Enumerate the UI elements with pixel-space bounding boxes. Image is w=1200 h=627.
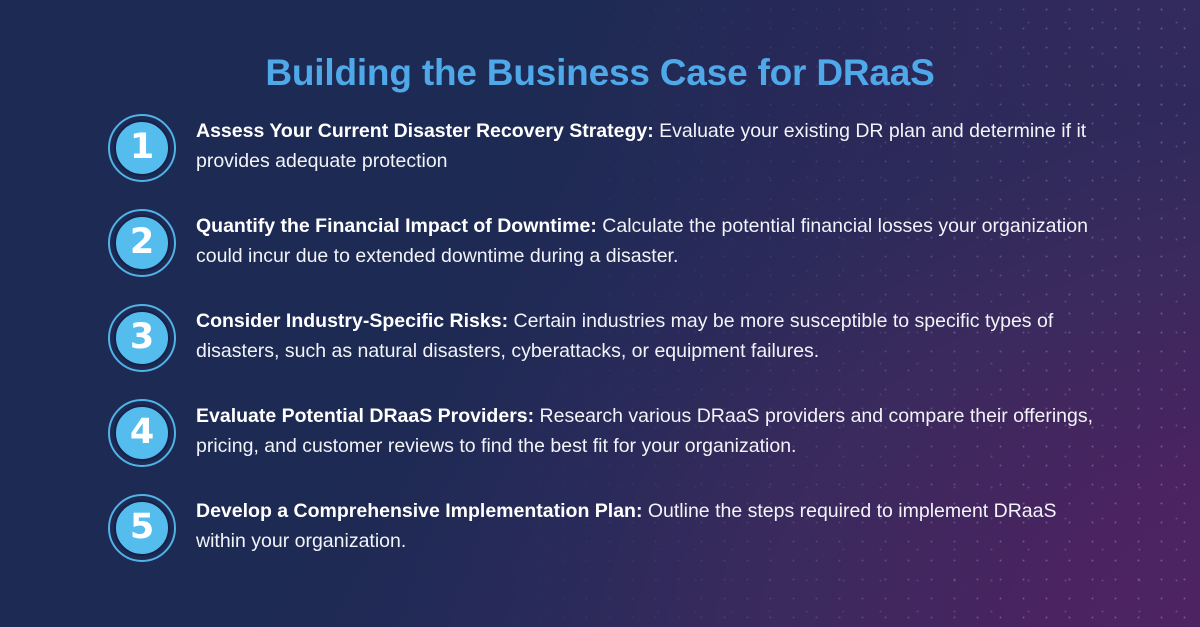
- step-number-badge: 4: [108, 399, 176, 467]
- step-number-label: 1: [130, 130, 154, 165]
- step-number-label: 4: [130, 415, 154, 450]
- step-number-label: 2: [130, 225, 154, 260]
- infographic-canvas: Building the Business Case for DRaaS 1 A…: [0, 0, 1200, 627]
- step-number-badge: 3: [108, 304, 176, 372]
- step-heading: Assess Your Current Disaster Recovery St…: [196, 120, 654, 142]
- step-number-badge-inner: 3: [114, 310, 170, 366]
- step-number-badge-inner: 5: [114, 500, 170, 556]
- step-text: Quantify the Financial Impact of Downtim…: [196, 209, 1104, 271]
- step-number-badge-inner: 2: [114, 215, 170, 271]
- steps-list: 1 Assess Your Current Disaster Recovery …: [0, 114, 1200, 589]
- step-heading: Develop a Comprehensive Implementation P…: [196, 500, 642, 522]
- infographic-content: Building the Business Case for DRaaS 1 A…: [0, 0, 1200, 627]
- step-number-badge-inner: 4: [114, 405, 170, 461]
- step-number-label: 3: [130, 320, 154, 355]
- step-heading: Evaluate Potential DRaaS Providers:: [196, 405, 534, 427]
- step-number-badge: 2: [108, 209, 176, 277]
- list-item: 3 Consider Industry-Specific Risks: Cert…: [0, 304, 1200, 382]
- step-heading: Quantify the Financial Impact of Downtim…: [196, 215, 597, 237]
- step-number-badge-inner: 1: [114, 120, 170, 176]
- step-text: Evaluate Potential DRaaS Providers: Rese…: [196, 399, 1104, 461]
- step-number-badge: 1: [108, 114, 176, 182]
- step-heading: Consider Industry-Specific Risks:: [196, 310, 508, 332]
- step-text: Consider Industry-Specific Risks: Certai…: [196, 304, 1104, 366]
- list-item: 1 Assess Your Current Disaster Recovery …: [0, 114, 1200, 192]
- step-number-badge: 5: [108, 494, 176, 562]
- step-number-label: 5: [130, 510, 154, 545]
- page-title: Building the Business Case for DRaaS: [0, 52, 1200, 94]
- step-text: Develop a Comprehensive Implementation P…: [196, 494, 1104, 556]
- list-item: 4 Evaluate Potential DRaaS Providers: Re…: [0, 399, 1200, 477]
- list-item: 2 Quantify the Financial Impact of Downt…: [0, 209, 1200, 287]
- step-text: Assess Your Current Disaster Recovery St…: [196, 114, 1104, 176]
- list-item: 5 Develop a Comprehensive Implementation…: [0, 494, 1200, 572]
